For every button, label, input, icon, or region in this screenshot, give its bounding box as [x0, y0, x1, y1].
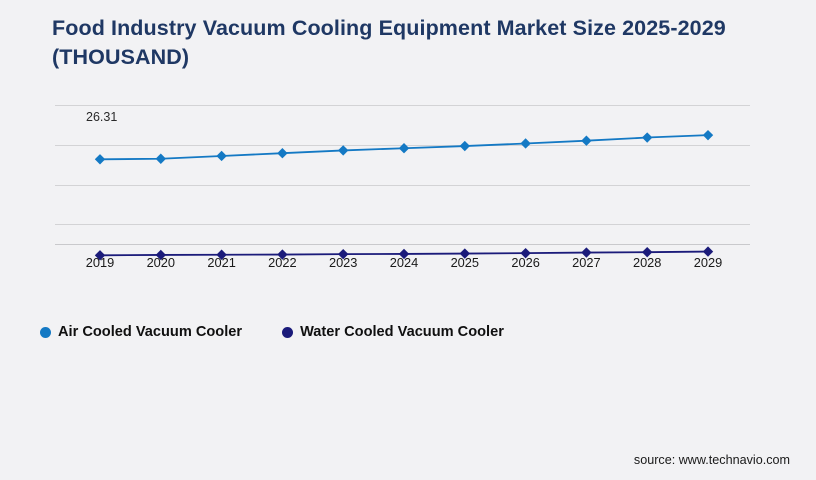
x-tick-label: 2027	[572, 255, 600, 270]
source-note: source: www.technavio.com	[634, 453, 790, 467]
legend-marker-icon	[282, 327, 293, 338]
x-axis-labels: 2019202020212022202320242025202620272028…	[55, 255, 750, 275]
data-label-first-point: 26.31	[86, 110, 117, 124]
series-marker[interactable]	[399, 143, 409, 153]
x-tick-label: 2020	[147, 255, 175, 270]
series-marker[interactable]	[703, 130, 713, 140]
x-tick-label: 2024	[390, 255, 418, 270]
x-tick-label: 2023	[329, 255, 357, 270]
legend-label: Water Cooled Vacuum Cooler	[300, 324, 504, 340]
legend-item-water-cooled[interactable]: Water Cooled Vacuum Cooler	[282, 324, 504, 340]
series-marker[interactable]	[642, 132, 652, 142]
series-marker[interactable]	[156, 154, 166, 164]
chart-legend: Air Cooled Vacuum Cooler Water Cooled Va…	[40, 324, 504, 340]
series-layer	[55, 100, 750, 245]
legend-item-air-cooled[interactable]: Air Cooled Vacuum Cooler	[40, 324, 242, 340]
series-marker[interactable]	[581, 136, 591, 146]
series-marker[interactable]	[520, 138, 530, 148]
x-tick-label: 2021	[207, 255, 235, 270]
x-tick-label: 2019	[86, 255, 114, 270]
x-tick-label: 2029	[694, 255, 722, 270]
chart-title: Food Industry Vacuum Cooling Equipment M…	[52, 14, 752, 72]
legend-label: Air Cooled Vacuum Cooler	[58, 324, 242, 340]
x-axis-line	[55, 244, 750, 245]
x-tick-label: 2026	[511, 255, 539, 270]
chart-container: Food Industry Vacuum Cooling Equipment M…	[0, 0, 816, 480]
x-tick-label: 2025	[451, 255, 479, 270]
x-tick-label: 2028	[633, 255, 661, 270]
series-marker[interactable]	[277, 148, 287, 158]
series-marker[interactable]	[216, 151, 226, 161]
series-marker[interactable]	[338, 145, 348, 155]
series-marker[interactable]	[460, 141, 470, 151]
plot-area	[55, 100, 750, 245]
x-tick-label: 2022	[268, 255, 296, 270]
series-marker[interactable]	[95, 154, 105, 164]
legend-marker-icon	[40, 327, 51, 338]
